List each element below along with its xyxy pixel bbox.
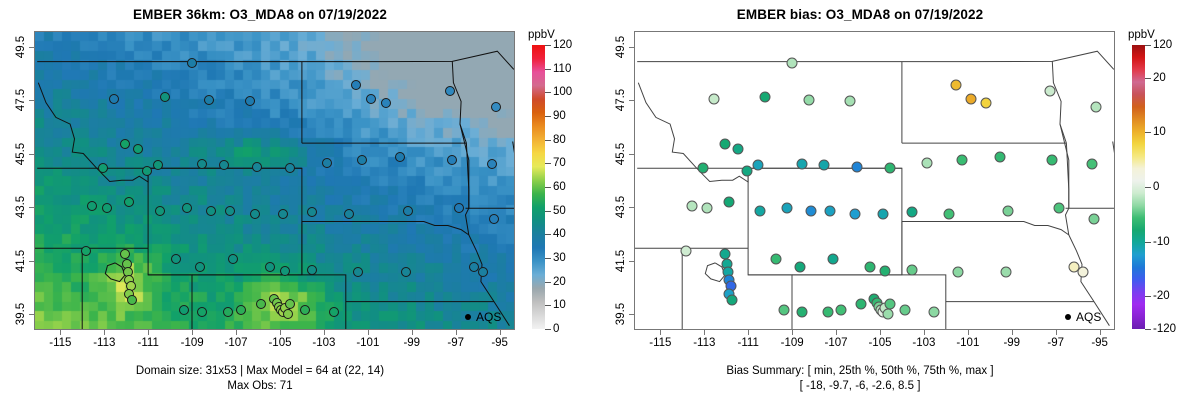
monitor-marker [720, 139, 731, 150]
y-axis-tick [29, 47, 34, 48]
colorbar-tick-label: 20 [1153, 72, 1166, 84]
x-axis-label: -103 [912, 337, 935, 349]
colorbar-tick-label: 110 [553, 63, 571, 75]
monitor-marker [153, 160, 163, 170]
monitor-marker [803, 95, 814, 106]
monitor-marker [1047, 155, 1058, 166]
colorbar-bias: ppbV -120-20-1001020120 [1128, 31, 1198, 331]
monitor-marker [160, 92, 170, 102]
colorbar-gradient [532, 45, 545, 329]
state-border-line [148, 275, 192, 329]
x-axis-tick [748, 330, 749, 335]
x-axis-tick [500, 330, 501, 335]
panel-title-model: EMBER 36km: O3_MDA8 on 07/19/2022 [0, 7, 520, 22]
y-axis-tick [629, 314, 634, 315]
y-axis-tick [29, 100, 34, 101]
x-axis-tick [236, 330, 237, 335]
state-borders-bias [635, 32, 1114, 329]
aqs-legend-label: AQS [1076, 310, 1101, 324]
x-axis-label: -101 [956, 337, 979, 349]
colorbar-tick-label: 0 [553, 323, 559, 335]
y-axis-label: 47.5 [15, 89, 27, 111]
x-axis-tick [104, 330, 105, 335]
x-axis-tick [792, 330, 793, 335]
monitor-marker [709, 93, 720, 104]
monitor-marker [944, 208, 955, 219]
monitor-marker [155, 206, 165, 216]
x-axis-tick [280, 330, 281, 335]
monitor-marker [928, 307, 939, 318]
x-axis-label: -109 [781, 337, 804, 349]
monitor-marker [720, 248, 731, 259]
monitor-marker [403, 206, 413, 216]
monitor-marker [109, 94, 119, 104]
y-axis-label: 43.5 [15, 196, 27, 218]
monitor-marker [882, 308, 893, 319]
x-axis-tick [880, 330, 881, 335]
monitor-marker [845, 96, 856, 107]
monitor-marker [823, 307, 834, 318]
monitor-marker [171, 254, 181, 264]
monitor-marker [752, 160, 763, 171]
monitor-marker [204, 95, 214, 105]
colorbar-units-label: ppbV [1128, 29, 1155, 41]
monitor-marker [1086, 159, 1097, 170]
state-border-line [38, 83, 148, 182]
monitor-marker [285, 163, 295, 173]
x-axis-label: -109 [181, 337, 204, 349]
monitor-marker [957, 155, 968, 166]
colorbar-tick [545, 116, 551, 117]
monitor-marker [219, 160, 229, 170]
colorbar-tick-label: 0 [1153, 181, 1159, 193]
monitor-marker [102, 203, 112, 213]
y-axis-tick [29, 207, 34, 208]
state-border-line [902, 222, 1069, 235]
x-axis-label: -101 [356, 337, 379, 349]
colorbar-tick-label: 40 [553, 228, 566, 240]
colorbar-tick [545, 140, 551, 141]
monitor-marker [781, 203, 792, 214]
monitor-marker [278, 209, 288, 219]
monitor-marker [445, 86, 455, 96]
x-axis-tick [924, 330, 925, 335]
monitor-marker [779, 304, 790, 315]
colorbar-tick [545, 258, 551, 259]
y-axis-label: 39.5 [15, 303, 27, 325]
colorbar-tick-label: 10 [553, 299, 566, 311]
colorbar-tick-label: 20 [553, 276, 566, 288]
x-axis-tick [660, 330, 661, 335]
monitor-marker [796, 159, 807, 170]
colorbar-tick-label: 120 [553, 39, 572, 51]
monitor-marker [1091, 101, 1102, 112]
monitor-marker [285, 299, 295, 309]
monitor-marker [1045, 85, 1056, 96]
state-border-line [452, 61, 466, 143]
monitor-marker [1089, 213, 1100, 224]
aqs-legend-dot [465, 314, 471, 320]
state-border-line [1113, 142, 1114, 163]
monitor-marker [98, 163, 108, 173]
monitor-marker [236, 305, 246, 315]
monitor-marker [179, 305, 189, 315]
monitor-marker [836, 304, 847, 315]
state-border-line [513, 142, 514, 163]
caption-line-1: Bias Summary: [ min, 25th %, 50th %, 75t… [600, 364, 1120, 379]
colorbar-units-label: ppbV [528, 29, 555, 41]
x-axis-label: -107 [225, 337, 248, 349]
colorbar-tick [1145, 242, 1151, 243]
monitor-marker [124, 197, 134, 207]
monitor-marker [491, 102, 501, 112]
y-axis-label: 45.5 [615, 143, 627, 165]
monitor-marker [344, 209, 354, 219]
monitor-marker [1001, 267, 1012, 278]
y-axis-label: 49.5 [615, 36, 627, 58]
monitor-marker [724, 196, 735, 207]
monitor-marker [865, 261, 876, 272]
x-axis-tick [968, 330, 969, 335]
colorbar-tick-label: 70 [553, 157, 566, 169]
monitor-marker [981, 97, 992, 108]
monitor-marker [794, 261, 805, 272]
x-axis-label: -95 [1091, 337, 1108, 349]
colorbar-tick [1145, 45, 1151, 46]
monitor-marker [880, 265, 891, 276]
x-axis-label: -103 [312, 337, 335, 349]
monitor-marker [280, 266, 290, 276]
y-axis-label: 43.5 [615, 196, 627, 218]
monitor-marker [922, 157, 933, 168]
monitor-marker [787, 57, 798, 68]
caption-line-2: Max Obs: 71 [0, 379, 520, 394]
monitor-marker [726, 295, 737, 306]
monitor-marker [805, 205, 816, 216]
monitor-marker [225, 206, 235, 216]
x-axis-label: -105 [868, 337, 891, 349]
x-axis-tick [60, 330, 61, 335]
state-border-line [192, 275, 346, 329]
colorbar-tick-label: 80 [553, 134, 566, 146]
monitor-marker [187, 58, 197, 68]
monitor-marker [759, 92, 770, 103]
monitor-marker [680, 245, 691, 256]
x-axis-label: -99 [1003, 337, 1020, 349]
monitor-marker [755, 205, 766, 216]
x-axis-label: -115 [649, 337, 671, 349]
x-axis-label: -111 [138, 337, 159, 349]
monitor-marker [182, 203, 192, 213]
colorbar-tick [1145, 78, 1151, 79]
x-axis-label: -105 [268, 337, 291, 349]
monitor-marker [478, 267, 488, 277]
colorbar-tick-label: -10 [1153, 236, 1170, 248]
colorbar-gradient [1132, 45, 1145, 329]
x-axis-label: -99 [403, 337, 420, 349]
monitor-marker [952, 267, 963, 278]
monitor-marker [395, 152, 405, 162]
monitor-marker [702, 203, 713, 214]
monitor-marker [307, 207, 317, 217]
caption-line-2: [ -18, -9.7, -6, -2.6, 8.5 ] [600, 379, 1120, 394]
state-border-line [1052, 61, 1066, 143]
monitor-marker [489, 214, 499, 224]
x-axis-tick [456, 330, 457, 335]
x-axis-tick [704, 330, 705, 335]
monitor-marker [770, 253, 781, 264]
y-axis-label: 41.5 [15, 249, 27, 271]
panel-bias: EMBER bias: O3_MDA8 on 07/19/2022 AQS -1… [600, 0, 1200, 409]
state-border-line [37, 51, 514, 69]
x-axis-label: -115 [49, 337, 71, 349]
x-axis-tick [836, 330, 837, 335]
monitor-marker [228, 254, 238, 264]
monitor-marker [401, 267, 411, 277]
colorbar-tick-label: 50 [553, 205, 566, 217]
x-axis-tick [148, 330, 149, 335]
x-axis-tick [368, 330, 369, 335]
monitor-marker [256, 299, 266, 309]
x-axis-label: -113 [693, 337, 715, 349]
y-axis-tick [629, 207, 634, 208]
monitor-marker [223, 307, 233, 317]
caption-bias: Bias Summary: [ min, 25th %, 50th %, 75t… [600, 364, 1120, 393]
y-axis-tick [629, 154, 634, 155]
monitor-marker [357, 155, 367, 165]
monitor-marker [87, 201, 97, 211]
x-axis-tick [412, 330, 413, 335]
monitor-marker [81, 246, 91, 256]
state-border-line [302, 222, 469, 235]
monitor-marker [366, 94, 376, 104]
monitor-marker [687, 200, 698, 211]
monitor-marker [906, 264, 917, 275]
monitor-marker [447, 155, 457, 165]
monitor-marker [966, 93, 977, 104]
monitor-marker [307, 265, 317, 275]
colorbar-tick [545, 282, 551, 283]
monitor-marker [142, 166, 152, 176]
state-border-line [638, 83, 748, 182]
colorbar-tick-label: -120 [1153, 323, 1176, 335]
monitor-marker [1078, 267, 1089, 278]
x-axis-tick [324, 330, 325, 335]
monitor-marker [245, 96, 255, 106]
x-axis-label: -95 [491, 337, 508, 349]
monitor-marker [197, 159, 207, 169]
monitor-marker [825, 205, 836, 216]
x-axis-label: -107 [825, 337, 848, 349]
colorbar-tick-label: 60 [553, 181, 566, 193]
y-axis-label: 41.5 [615, 249, 627, 271]
map-frame-model: AQS [34, 31, 515, 330]
y-axis-tick [629, 261, 634, 262]
monitor-marker [206, 206, 216, 216]
monitor-marker [900, 304, 911, 315]
monitor-marker [878, 208, 889, 219]
monitor-marker [353, 267, 363, 277]
monitor-marker [851, 161, 862, 172]
panel-title-bias: EMBER bias: O3_MDA8 on 07/19/2022 [600, 7, 1120, 22]
panel-model: EMBER 36km: O3_MDA8 on 07/19/2022 AQS -1… [0, 0, 600, 409]
x-axis-label: -113 [93, 337, 115, 349]
colorbar-tick-label: 120 [1153, 39, 1172, 51]
colorbar-tick [545, 163, 551, 164]
monitor-marker [698, 163, 709, 174]
aqs-legend-label: AQS [476, 310, 501, 324]
monitor-marker [252, 162, 262, 172]
colorbar-tick-label: -20 [1153, 290, 1170, 302]
monitor-marker [856, 299, 867, 310]
aqs-legend-dot [1065, 314, 1071, 320]
colorbar-tick [545, 45, 551, 46]
colorbar-tick [1145, 132, 1151, 133]
colorbar-tick [545, 234, 551, 235]
monitor-marker [381, 98, 391, 108]
colorbar-tick [1145, 329, 1151, 330]
monitor-marker [120, 139, 130, 149]
y-axis-label: 39.5 [615, 303, 627, 325]
monitor-marker [796, 307, 807, 318]
monitor-marker [250, 209, 260, 219]
x-axis-tick [1056, 330, 1057, 335]
y-axis-tick [629, 47, 634, 48]
monitor-marker [950, 80, 961, 91]
colorbar-tick [545, 69, 551, 70]
y-axis-tick [629, 100, 634, 101]
colorbar-tick [1145, 187, 1151, 188]
monitor-marker [1003, 205, 1014, 216]
colorbar-tick [545, 92, 551, 93]
monitor-marker [1053, 203, 1064, 214]
x-axis-label: -111 [738, 337, 759, 349]
monitor-marker [884, 163, 895, 174]
colorbar-tick-label: 10 [1153, 126, 1166, 138]
monitor-marker [329, 307, 339, 317]
y-axis-label: 47.5 [615, 89, 627, 111]
colorbar-tick-label: 100 [553, 86, 572, 98]
x-axis-label: -97 [447, 337, 464, 349]
monitor-marker [283, 309, 293, 319]
monitor-marker [351, 80, 361, 90]
monitor-marker [742, 165, 753, 176]
caption-line-1: Domain size: 31x53 | Max Model = 64 at (… [0, 364, 520, 379]
monitor-marker [818, 160, 829, 171]
colorbar-tick [545, 305, 551, 306]
y-axis-tick [29, 314, 34, 315]
x-axis-tick [1100, 330, 1101, 335]
monitor-marker [733, 144, 744, 155]
x-axis-tick [192, 330, 193, 335]
y-axis-tick [29, 154, 34, 155]
y-axis-tick [29, 261, 34, 262]
colorbar-model: ppbV 0102030405060708090100110120 [528, 31, 598, 331]
monitor-marker [906, 207, 917, 218]
monitor-marker [120, 249, 130, 259]
map-canvas-model: AQS [35, 32, 514, 329]
colorbar-tick-label: 30 [553, 252, 566, 264]
state-borders-model [35, 32, 514, 329]
monitor-marker [454, 203, 464, 213]
colorbar-tick [545, 329, 551, 330]
colorbar-tick [545, 187, 551, 188]
monitor-marker [197, 307, 207, 317]
monitor-marker [322, 158, 332, 168]
caption-model: Domain size: 31x53 | Max Model = 64 at (… [0, 364, 520, 393]
state-border-line [748, 275, 792, 329]
colorbar-tick [545, 211, 551, 212]
monitor-marker [127, 295, 137, 305]
monitor-marker [849, 208, 860, 219]
monitor-marker [133, 144, 143, 154]
monitor-marker [265, 262, 275, 272]
x-axis-tick [1012, 330, 1013, 335]
monitor-marker [487, 159, 497, 169]
monitor-marker [827, 253, 838, 264]
y-axis-label: 45.5 [15, 143, 27, 165]
monitor-marker [884, 299, 895, 310]
monitor-marker [300, 305, 310, 315]
colorbar-tick [1145, 296, 1151, 297]
y-axis-label: 49.5 [15, 36, 27, 58]
map-frame-bias: AQS [634, 31, 1115, 330]
monitor-marker [994, 152, 1005, 163]
colorbar-tick-label: 90 [553, 110, 566, 122]
state-border-line [637, 51, 1114, 69]
x-axis-label: -97 [1047, 337, 1064, 349]
map-canvas-bias: AQS [635, 32, 1114, 329]
monitor-marker [195, 262, 205, 272]
